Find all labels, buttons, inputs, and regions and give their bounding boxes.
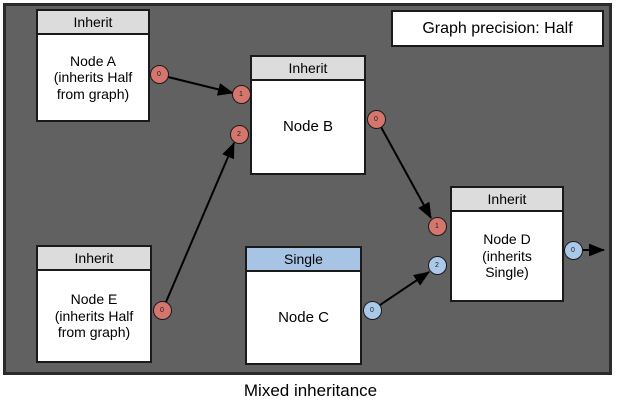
node-b-header: Inherit	[252, 57, 364, 81]
node-b-port-out-0[interactable]: 0	[367, 110, 386, 129]
graph-precision-legend: Graph precision: Half	[391, 10, 604, 47]
node-e-header: Inherit	[38, 247, 150, 271]
node-d-port-out-0[interactable]: 0	[564, 241, 583, 260]
node-e-body: Node E (inherits Half from graph)	[38, 271, 150, 361]
caption-label: Mixed inheritance	[244, 381, 377, 400]
node-d-port-in-2[interactable]: 2	[428, 256, 447, 275]
node-b-body: Node B	[252, 81, 364, 173]
node-e[interactable]: InheritNode E (inherits Half from graph)	[36, 245, 152, 363]
node-d-body: Node D (inherits Single)	[452, 212, 562, 300]
node-c-port-out-0[interactable]: 0	[363, 301, 382, 320]
node-e-port-out-0[interactable]: 0	[153, 301, 172, 320]
figure-caption: Mixed inheritance	[0, 381, 621, 401]
node-c-body: Node C	[247, 272, 360, 363]
node-c[interactable]: SingleNode C	[245, 246, 362, 365]
node-d-port-in-1[interactable]: 1	[428, 217, 447, 236]
node-d-header: Inherit	[452, 188, 562, 212]
node-a-body: Node A (inherits Half from graph)	[38, 35, 148, 120]
node-b-port-in-2[interactable]: 2	[230, 125, 249, 144]
node-b[interactable]: InheritNode B	[250, 55, 366, 175]
node-d[interactable]: InheritNode D (inherits Single)	[450, 186, 564, 302]
node-c-header: Single	[247, 248, 360, 272]
legend-label: Graph precision: Half	[422, 20, 572, 38]
node-a-header: Inherit	[38, 11, 148, 35]
node-a[interactable]: InheritNode A (inherits Half from graph)	[36, 9, 150, 122]
node-b-port-in-1[interactable]: 1	[232, 85, 251, 104]
diagram-root: InheritNode A (inherits Half from graph)…	[0, 0, 621, 416]
node-a-port-out-0[interactable]: 0	[150, 65, 169, 84]
